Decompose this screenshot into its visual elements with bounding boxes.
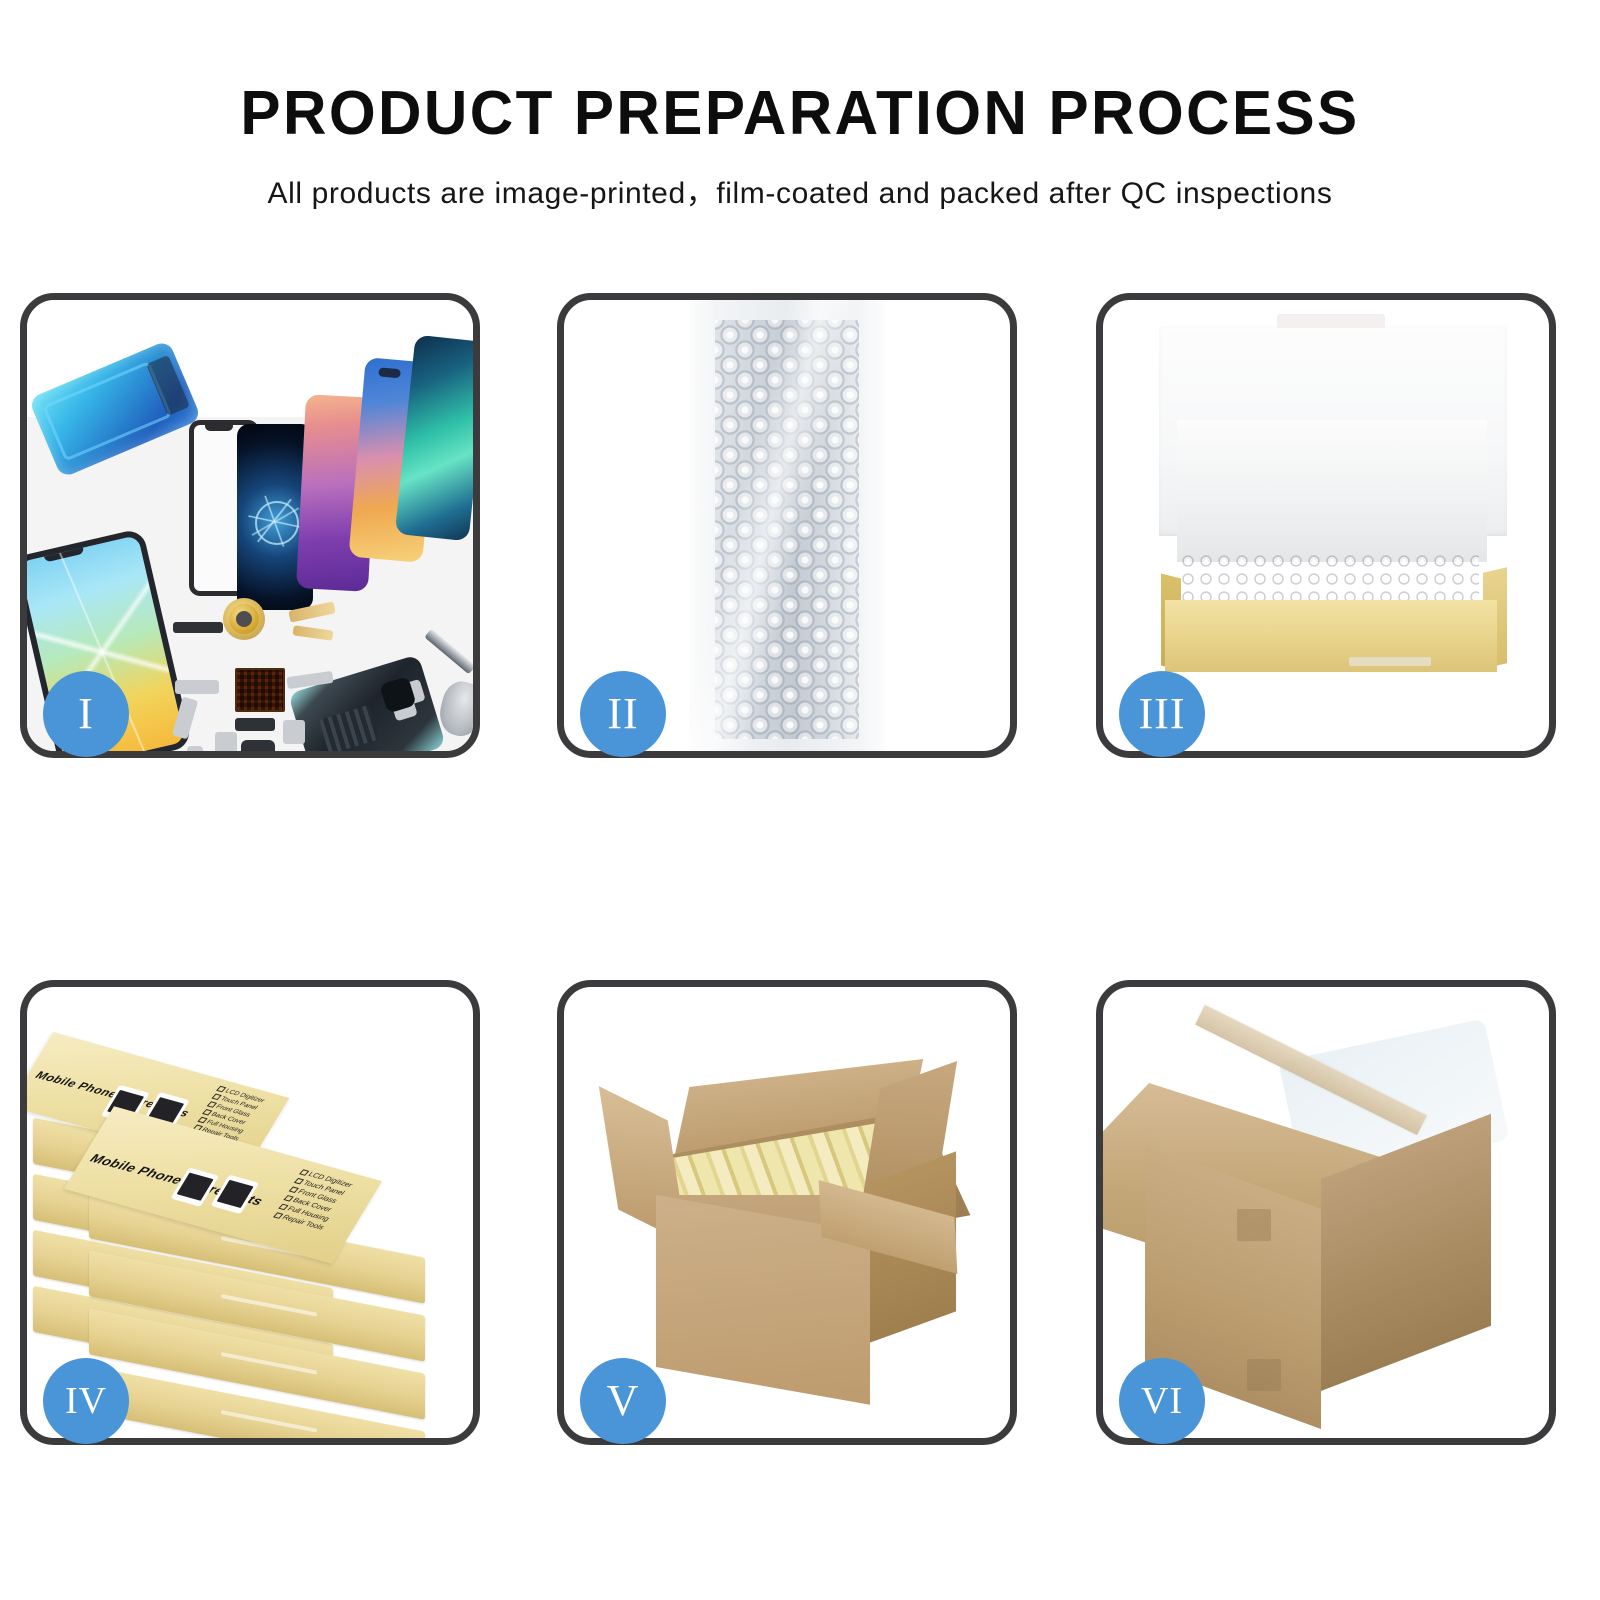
step-badge-5: V xyxy=(580,1358,666,1444)
step-badge-3: III xyxy=(1119,671,1205,757)
process-step-panel-2[interactable]: II xyxy=(557,293,1017,758)
process-step-grid: I II III xyxy=(0,0,1600,1600)
box-seam xyxy=(221,1410,317,1433)
plastic-sheen-highlight xyxy=(689,300,885,751)
foam-liner-sheet xyxy=(1177,420,1487,562)
sim-tray-part xyxy=(187,746,203,751)
speaker-module-part xyxy=(241,740,275,751)
box-front-panel xyxy=(1165,600,1497,672)
step-badge-1: I xyxy=(43,671,129,757)
bracket-part-a xyxy=(175,680,219,694)
camera-module-part xyxy=(215,732,237,751)
step-badge-4: IV xyxy=(43,1358,129,1444)
wireless-charging-coil-part xyxy=(223,598,265,640)
ic-chip-part xyxy=(235,668,285,712)
bubble-wrap-sleeve xyxy=(689,300,885,751)
step-badge-2: II xyxy=(580,671,666,757)
box-seam xyxy=(221,1352,317,1375)
process-step-panel-5[interactable]: V xyxy=(557,980,1017,1445)
process-step-panel-6[interactable]: VI xyxy=(1096,980,1556,1445)
box-screen-artwork xyxy=(171,1164,267,1218)
box-closure-tab xyxy=(1349,657,1431,666)
process-step-panel-3[interactable]: III xyxy=(1096,293,1556,758)
process-step-panel-4[interactable]: Mobile Phone Spare Parts LCD Digitizer T… xyxy=(20,980,480,1445)
sensor-module-part xyxy=(283,720,305,744)
process-step-panel-1[interactable]: I xyxy=(20,293,480,758)
earpiece-speaker-part xyxy=(173,622,223,633)
box-seam xyxy=(221,1294,317,1317)
vibration-motor-part xyxy=(235,718,275,731)
step-badge-6: VI xyxy=(1119,1358,1205,1444)
carton-label-patch-lower xyxy=(1247,1359,1281,1391)
box-checklist: LCD Digitizer Touch Panel Front Glass Ba… xyxy=(273,1167,362,1235)
carton-label-patch-upper xyxy=(1237,1209,1271,1241)
